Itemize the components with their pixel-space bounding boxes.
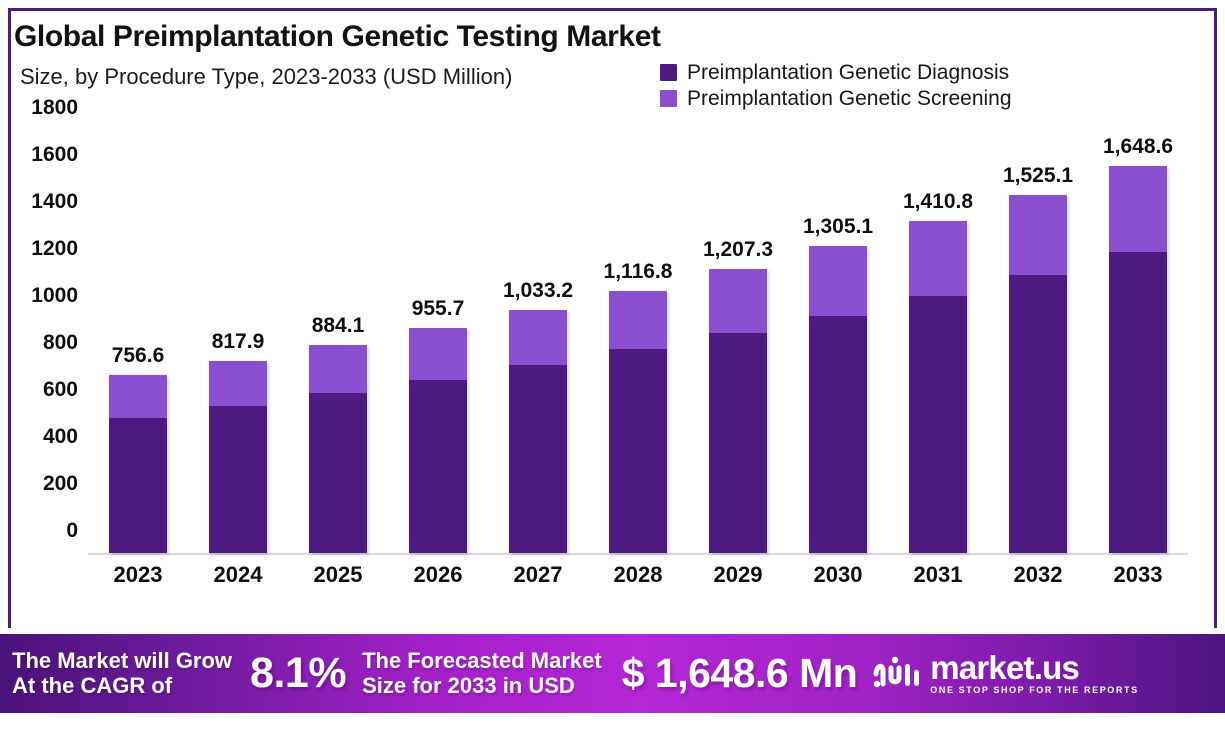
forecast-caption-line1: The Forecasted Market [362, 649, 602, 674]
y-axis-tick-label: 1200 [31, 237, 78, 261]
bar-segment-diagnosis[interactable] [109, 418, 167, 553]
stacked-bar[interactable]: 1,305.1 [809, 246, 867, 553]
cagr-value: 8.1% [250, 649, 346, 698]
bottom-strip [0, 713, 1225, 731]
bar-slot: 756.6 [88, 130, 188, 553]
logo-tagline: ONE STOP SHOP FOR THE REPORTS [930, 686, 1138, 695]
bar-total-label: 1,410.8 [903, 190, 973, 214]
summary-banner: The Market will Grow At the CAGR of 8.1%… [0, 634, 1225, 713]
bar-segment-screening[interactable] [1109, 166, 1167, 253]
market-us-logo-text: market.us ONE STOP SHOP FOR THE REPORTS [930, 652, 1138, 694]
bar-segment-diagnosis[interactable] [509, 365, 567, 553]
legend-item-screening[interactable]: Preimplantation Genetic Screening [660, 88, 1012, 109]
stacked-bar[interactable]: 1,525.1 [1009, 195, 1067, 553]
bar-segment-diagnosis[interactable] [1109, 252, 1167, 553]
bar-slot: 817.9 [188, 130, 288, 553]
forecast-value: $ 1,648.6 Mn [622, 650, 858, 697]
bar-segment-diagnosis[interactable] [609, 349, 667, 553]
bar-slot: 1,648.6 [1088, 130, 1188, 553]
x-axis-tick-label: 2028 [588, 562, 688, 588]
bar-slot: 1,116.8 [588, 130, 688, 553]
bar-slot: 884.1 [288, 130, 388, 553]
stacked-bar[interactable]: 884.1 [309, 345, 367, 553]
bar-segment-screening[interactable] [709, 269, 767, 333]
x-axis-tick-label: 2023 [88, 562, 188, 588]
chart-legend: Preimplantation Genetic Diagnosis Preimp… [660, 62, 1012, 109]
plot-area: 180016001400120010008006004002000 756.68… [88, 130, 1188, 555]
bar-segment-screening[interactable] [409, 328, 467, 380]
y-axis-tick-label: 1600 [31, 143, 78, 167]
stacked-bar[interactable]: 1,648.6 [1109, 166, 1167, 553]
bar-total-label: 1,207.3 [703, 238, 773, 262]
bar-total-label: 1,648.6 [1103, 135, 1173, 159]
bar-slot: 955.7 [388, 130, 488, 553]
stacked-bar[interactable]: 1,116.8 [609, 291, 667, 553]
bar-total-label: 756.6 [112, 344, 165, 368]
bar-total-label: 1,033.2 [503, 279, 573, 303]
x-axis-labels: 2023202420252026202720282029203020312032… [88, 562, 1188, 588]
stacked-bar[interactable]: 756.6 [109, 375, 167, 553]
x-axis-tick-label: 2030 [788, 562, 888, 588]
x-axis-line [88, 553, 1188, 555]
bar-segment-diagnosis[interactable] [709, 333, 767, 553]
bar-slot: 1,525.1 [988, 130, 1088, 553]
logo-name: market.us [930, 652, 1138, 683]
page-title: Global Preimplantation Genetic Testing M… [14, 20, 661, 54]
bar-total-label: 1,525.1 [1003, 164, 1073, 188]
legend-swatch-icon-diagnosis [660, 64, 677, 81]
market-us-logo-mark-icon [871, 654, 921, 694]
bar-segment-screening[interactable] [109, 375, 167, 418]
bar-segment-diagnosis[interactable] [309, 393, 367, 553]
bar-group: 756.6817.9884.1955.71,033.21,116.81,207.… [88, 130, 1188, 553]
stacked-bar[interactable]: 1,410.8 [909, 221, 967, 553]
bar-total-label: 955.7 [412, 297, 465, 321]
x-axis-tick-label: 2029 [688, 562, 788, 588]
bar-segment-screening[interactable] [809, 246, 867, 315]
bar-segment-diagnosis[interactable] [1009, 275, 1067, 553]
x-axis-tick-label: 2026 [388, 562, 488, 588]
legend-swatch-icon-screening [660, 90, 677, 107]
y-axis-tick-label: 1000 [31, 284, 78, 308]
stacked-bar[interactable]: 817.9 [209, 361, 267, 553]
bar-slot: 1,410.8 [888, 130, 988, 553]
y-axis-tick-label: 600 [43, 378, 78, 402]
bar-slot: 1,033.2 [488, 130, 588, 553]
cagr-caption-line1: The Market will Grow [12, 649, 232, 674]
bar-slot: 1,305.1 [788, 130, 888, 553]
bar-total-label: 1,305.1 [803, 215, 873, 239]
x-axis-tick-label: 2032 [988, 562, 1088, 588]
market-us-logo[interactable]: market.us ONE STOP SHOP FOR THE REPORTS [871, 652, 1138, 694]
bar-total-label: 817.9 [212, 330, 265, 354]
stacked-bar[interactable]: 1,207.3 [709, 269, 767, 553]
bar-segment-diagnosis[interactable] [809, 316, 867, 553]
chart-infographic: Global Preimplantation Genetic Testing M… [0, 0, 1225, 731]
x-axis-tick-label: 2033 [1088, 562, 1188, 588]
y-axis-tick-label: 200 [43, 472, 78, 496]
bar-segment-screening[interactable] [909, 221, 967, 296]
bar-segment-screening[interactable] [209, 361, 267, 406]
forecast-caption-line2: Size for 2033 in USD [362, 674, 602, 699]
bar-segment-diagnosis[interactable] [909, 296, 967, 553]
bar-segment-diagnosis[interactable] [209, 406, 267, 553]
forecast-caption: The Forecasted Market Size for 2033 in U… [362, 649, 602, 698]
bar-segment-screening[interactable] [609, 291, 667, 349]
cagr-caption-line2: At the CAGR of [12, 674, 232, 699]
bar-total-label: 1,116.8 [604, 260, 673, 284]
stacked-bar[interactable]: 1,033.2 [509, 310, 567, 553]
y-axis-tick-label: 1800 [31, 96, 78, 120]
bar-segment-screening[interactable] [1009, 195, 1067, 276]
legend-label-diagnosis: Preimplantation Genetic Diagnosis [687, 62, 1009, 83]
bar-total-label: 884.1 [312, 314, 365, 338]
y-axis-tick-label: 800 [43, 331, 78, 355]
y-axis-tick-label: 0 [66, 519, 78, 543]
bar-segment-screening[interactable] [309, 345, 367, 393]
bar-segment-screening[interactable] [509, 310, 567, 365]
x-axis-tick-label: 2025 [288, 562, 388, 588]
bar-slot: 1,207.3 [688, 130, 788, 553]
legend-label-screening: Preimplantation Genetic Screening [687, 88, 1012, 109]
y-axis-tick-label: 400 [43, 425, 78, 449]
x-axis-tick-label: 2031 [888, 562, 988, 588]
stacked-bar[interactable]: 955.7 [409, 328, 467, 553]
y-axis-tick-label: 1400 [31, 190, 78, 214]
bar-segment-diagnosis[interactable] [409, 380, 467, 553]
cagr-caption: The Market will Grow At the CAGR of [12, 649, 232, 698]
x-axis-tick-label: 2024 [188, 562, 288, 588]
legend-item-diagnosis[interactable]: Preimplantation Genetic Diagnosis [660, 62, 1012, 83]
page-subtitle: Size, by Procedure Type, 2023-2033 (USD … [20, 64, 512, 90]
x-axis-tick-label: 2027 [488, 562, 588, 588]
